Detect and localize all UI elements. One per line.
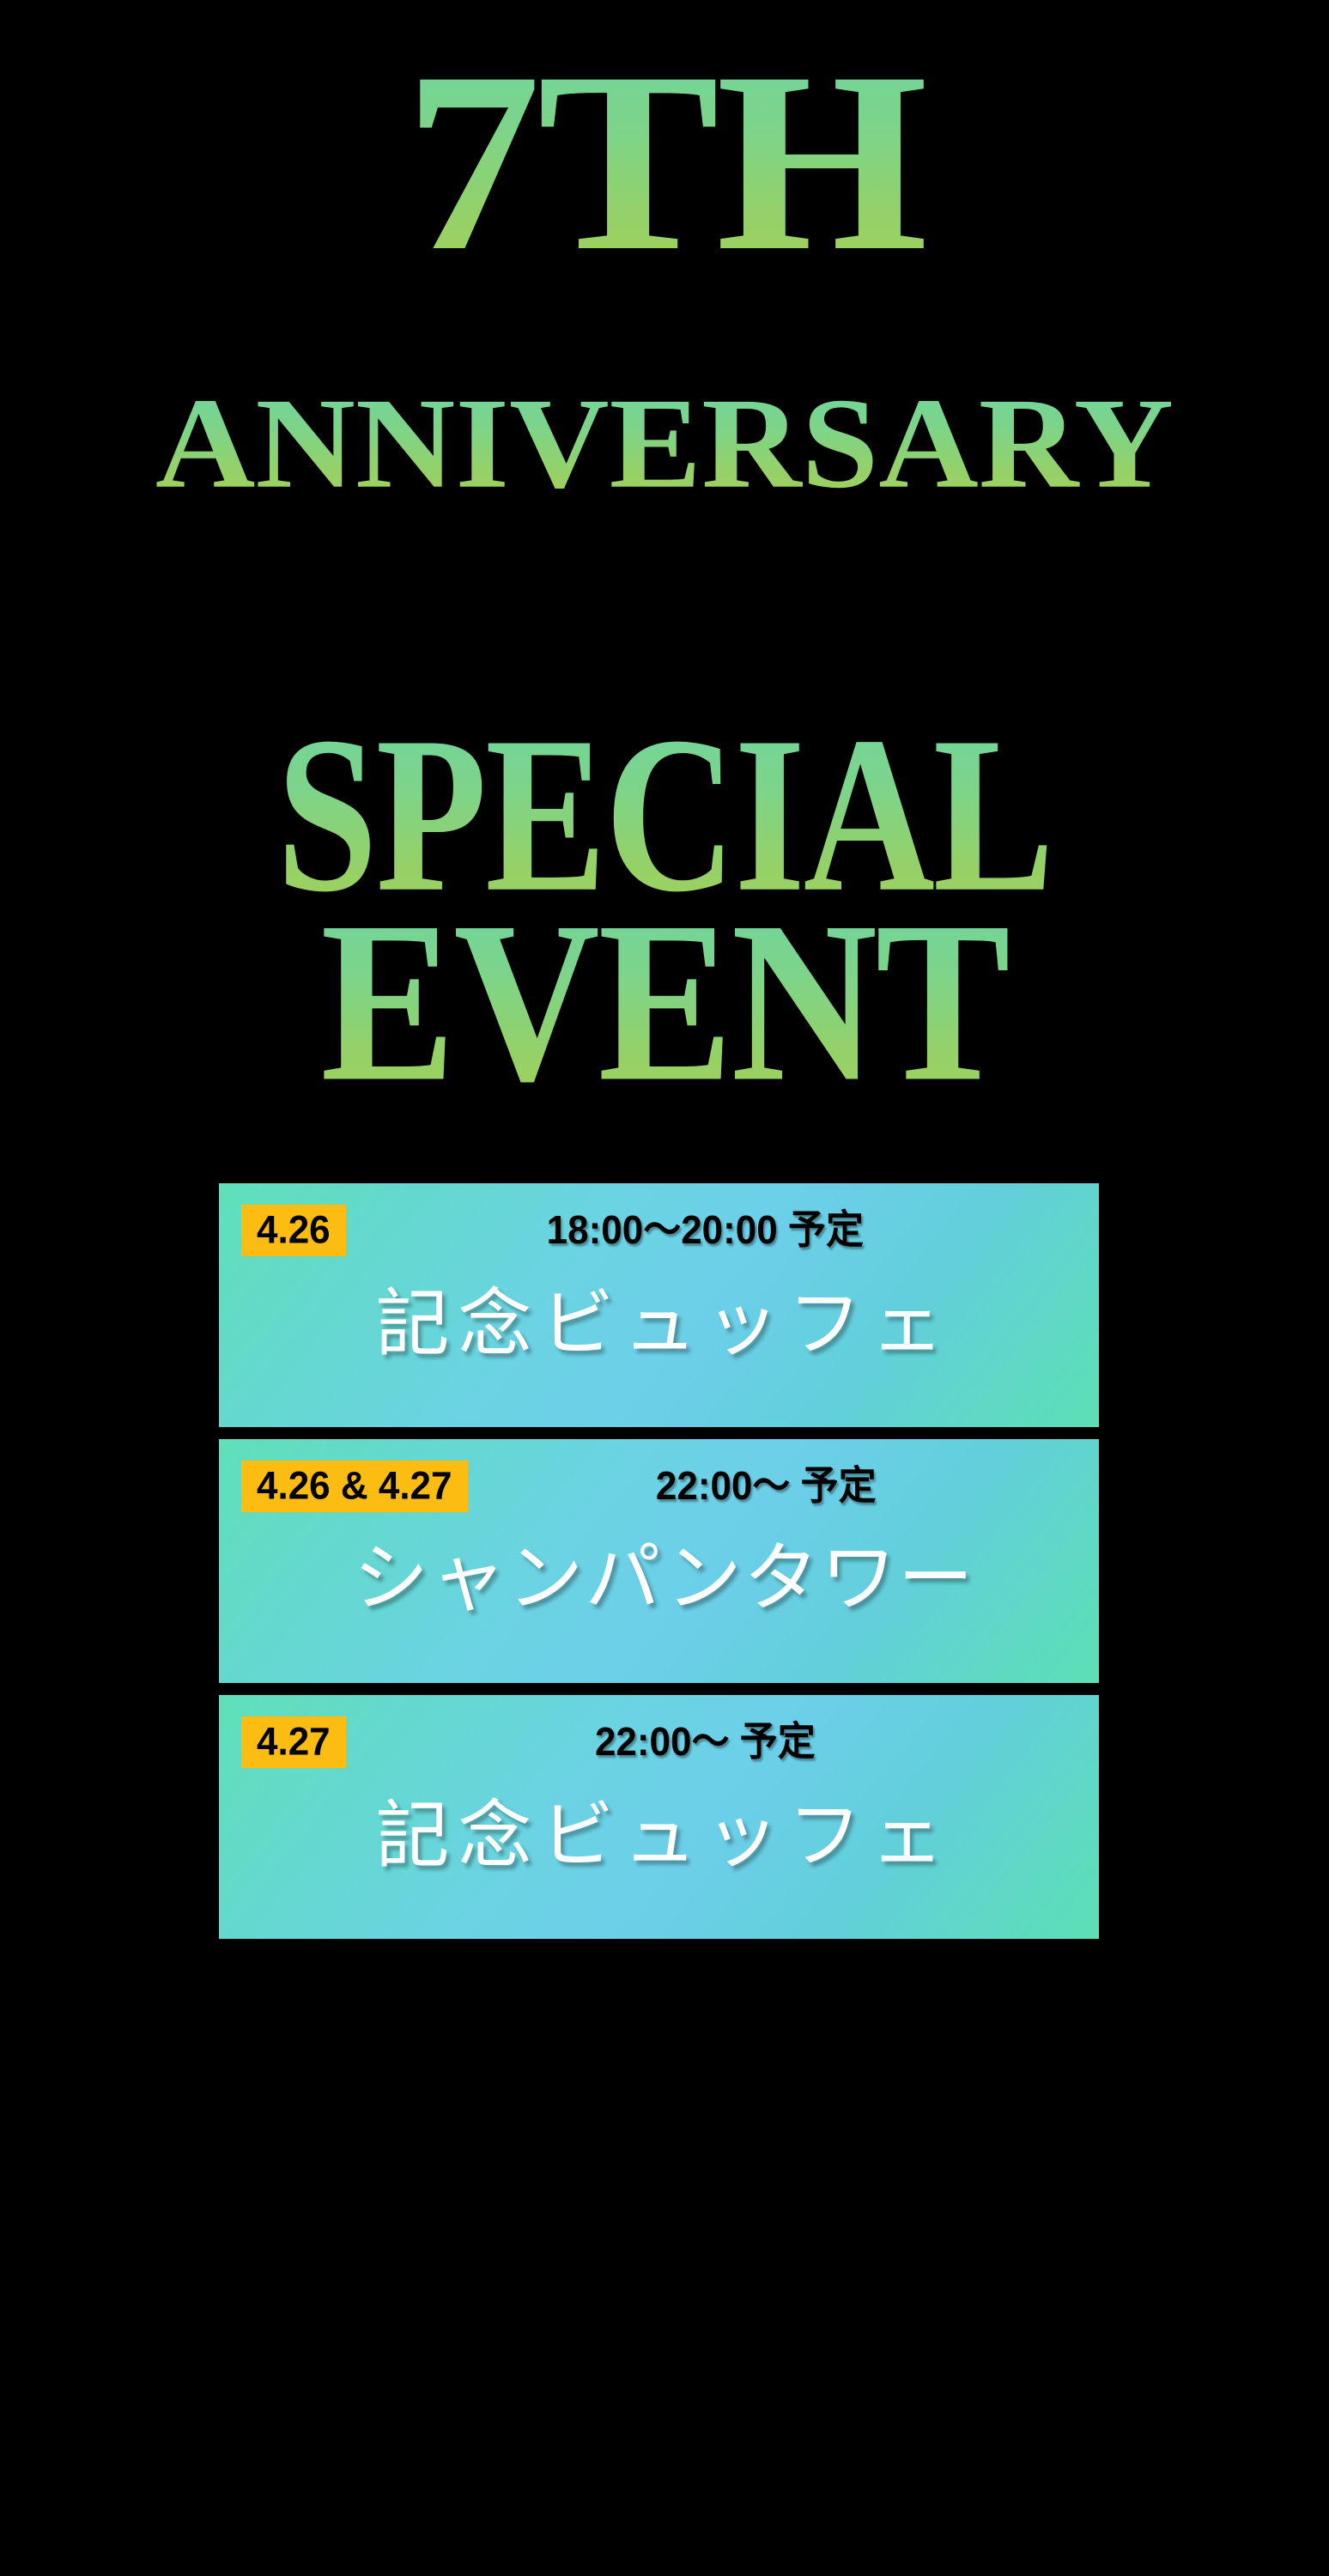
event-card-header: 4.26 18:00〜20:00 予定 [219, 1197, 1099, 1264]
event-title: 記念ビュッフェ [219, 1273, 1099, 1376]
event-date-badge: 4.27 [241, 1716, 346, 1768]
event-date-badge: 4.26 [241, 1205, 346, 1256]
special-event-headline: SPECIAL EVENT [0, 721, 1329, 1125]
event-card[interactable]: 4.27 22:00〜 予定 記念ビュッフェ [219, 1695, 1099, 1939]
event-title: 記念ビュッフェ [219, 1784, 1099, 1887]
event-card-header: 4.27 22:00〜 予定 [219, 1709, 1099, 1776]
event-time-label: 22:00〜 予定 [468, 1460, 1100, 1512]
event-card[interactable]: 4.26 & 4.27 22:00〜 予定 シャンパンタワー [219, 1439, 1099, 1683]
event-time-label: 22:00〜 予定 [346, 1716, 1099, 1768]
event-date-badge: 4.26 & 4.27 [241, 1461, 468, 1512]
event-card-header: 4.26 & 4.27 22:00〜 予定 [219, 1453, 1099, 1520]
event-card[interactable]: 4.26 18:00〜20:00 予定 記念ビュッフェ [219, 1183, 1099, 1427]
headline-line-event: EVENT [0, 888, 1329, 1118]
event-time-label: 18:00〜20:00 予定 [346, 1204, 1099, 1256]
poster-canvas: 7TH ANNIVERSARY SPECIAL EVENT 4.26 18:00… [0, 0, 1329, 2576]
anniversary-number: 7TH [0, 33, 1329, 290]
anniversary-word: ANNIVERSARY [0, 378, 1329, 507]
event-title: シャンパンタワー [219, 1528, 1099, 1631]
event-card-list: 4.26 18:00〜20:00 予定 記念ビュッフェ 4.26 & 4.27 … [219, 1183, 1099, 1951]
anniversary-hero: 7TH ANNIVERSARY [0, 0, 1329, 550]
